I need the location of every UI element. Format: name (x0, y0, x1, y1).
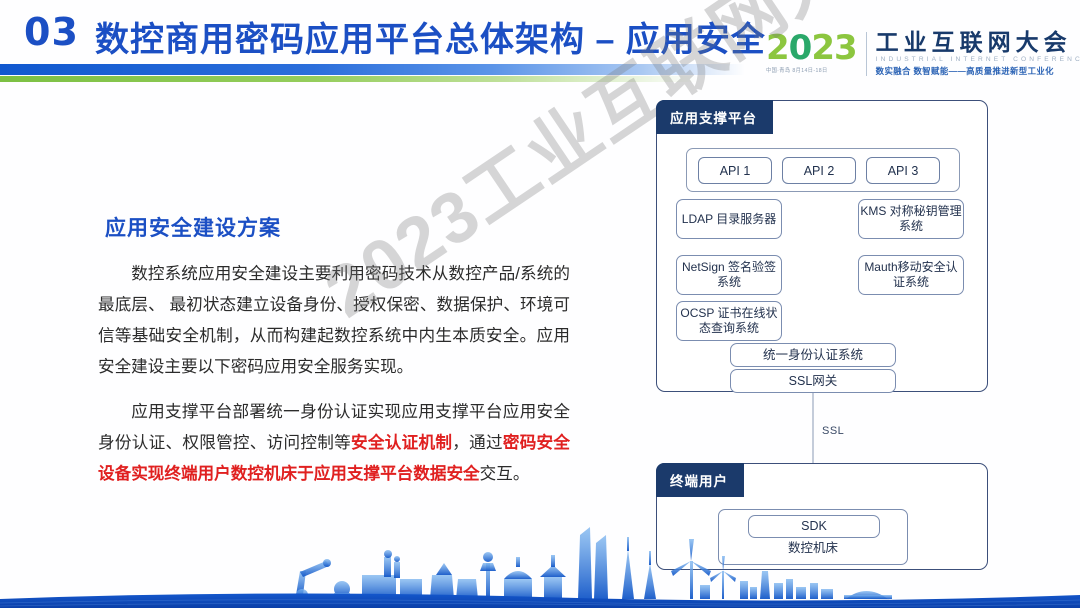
terminal-panel-title: 终端用户 (656, 463, 744, 497)
logo-subtitle: 数实融合 数智赋能——高质量推进新型工业化 (876, 65, 1080, 77)
logo-date: 中国·青岛 8月14日-18日 (766, 67, 857, 74)
logo-year: 2023 (766, 30, 857, 66)
plain-run: ，通过 (452, 433, 503, 452)
body-text: 数控系统应用安全建设主要利用密码技术从数控产品/系统的最底层、 最初状态建立设备… (98, 258, 570, 503)
api-chip-1[interactable]: API 1 (698, 157, 772, 184)
service-box-mauth[interactable]: Mauth移动安全认证系统 (858, 255, 964, 295)
highlighted-run: 实现终端用户数控机床于应用支撑平台数据安全 (131, 464, 479, 483)
api-chip-3[interactable]: API 3 (866, 157, 940, 184)
paragraph-1: 数控系统应用安全建设主要利用密码技术从数控产品/系统的最底层、 最初状态建立设备… (98, 258, 570, 382)
service-box-ocsp[interactable]: OCSP 证书在线状态查询系统 (676, 301, 782, 341)
sdk-box[interactable]: SDK (748, 515, 880, 538)
ssl-gateway-box[interactable]: SSL网关 (730, 369, 896, 393)
logo-name-en: INDUSTRIAL INTERNET CONFERENCE (876, 56, 1080, 63)
ssl-link-label: SSL (822, 425, 844, 437)
logo-year-block: 2023 中国·青岛 8月14日-18日 (766, 30, 857, 74)
header-rule-blue (0, 64, 745, 75)
slide-root: 03 数控商用密码应用平台总体架构 – 应用安全 2023 中国·青岛 8月14… (0, 0, 1080, 608)
api-chip-2[interactable]: API 2 (782, 157, 856, 184)
unified-auth-box[interactable]: 统一身份认证系统 (730, 343, 896, 367)
section-title: 应用安全建设方案 (105, 212, 281, 242)
page-title: 数控商用密码应用平台总体架构 – 应用安全 (95, 12, 766, 61)
architecture-diagram: 应用支撑平台 API 1 API 2 API 3 LDAP 目录服务器 KMS … (640, 95, 1020, 575)
paragraph-2: 应用支撑平台部署统一身份认证实现应用支撑平台应用安全身份认证、权限管控、访问控制… (98, 396, 570, 489)
page-number: 03 (24, 10, 79, 54)
service-box-ldap[interactable]: LDAP 目录服务器 (676, 199, 782, 239)
service-box-netsign[interactable]: NetSign 签名验签系统 (676, 255, 782, 295)
conference-logo: 2023 中国·青岛 8月14日-18日 工业互联网大会 INDUSTRIAL … (766, 30, 1080, 77)
logo-divider (866, 32, 867, 76)
platform-panel-title: 应用支撑平台 (656, 100, 773, 134)
highlighted-run: 安全认证机制 (351, 433, 452, 452)
logo-text-block: 工业互联网大会 INDUSTRIAL INTERNET CONFERENCE 数… (876, 30, 1080, 77)
plain-run: 交互。 (480, 464, 530, 483)
header-rule-green (0, 76, 700, 82)
logo-name-cn: 工业互联网大会 (876, 30, 1080, 55)
service-box-kms[interactable]: KMS 对称秘钥管理系统 (858, 199, 964, 239)
